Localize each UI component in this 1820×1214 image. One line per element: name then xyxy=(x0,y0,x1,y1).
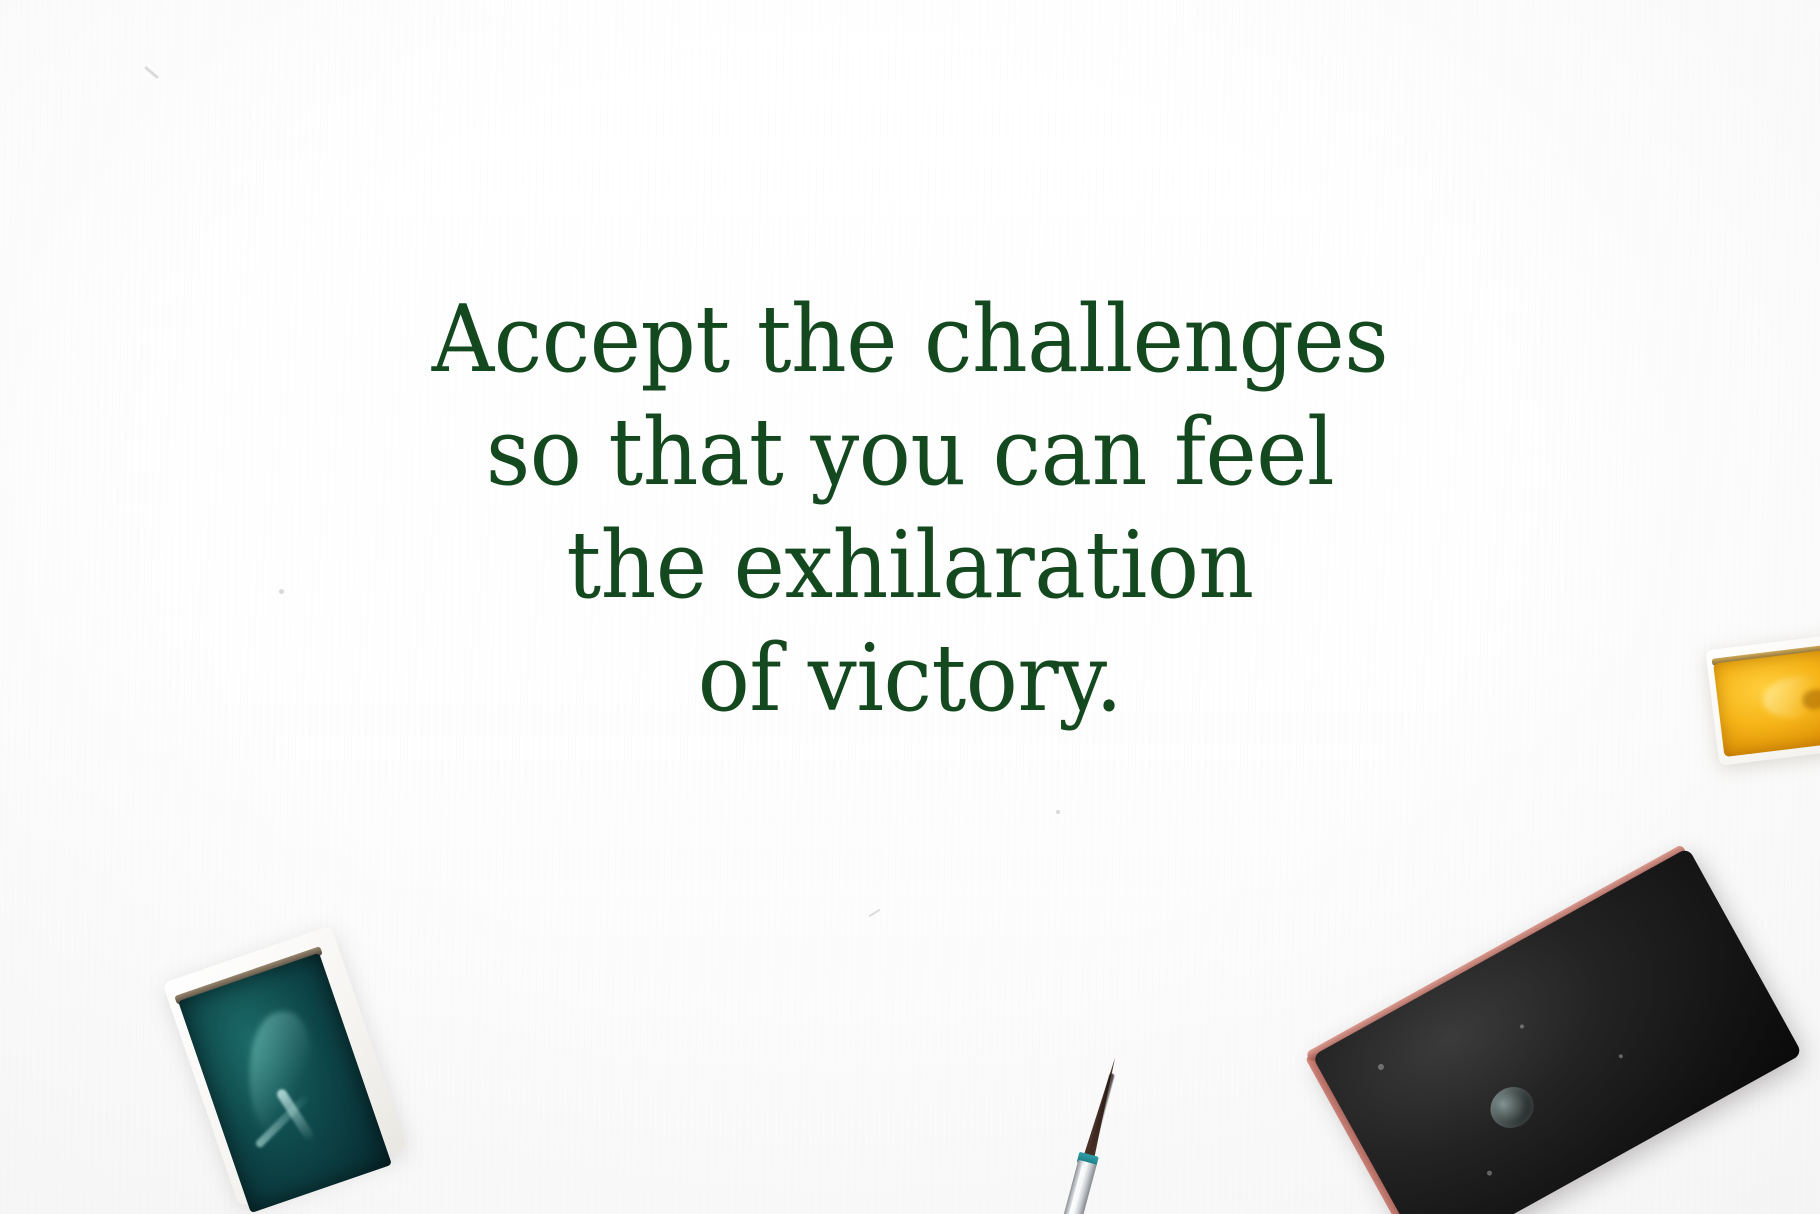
surface-speck xyxy=(1056,810,1060,814)
quote-line-1: Accept the challenges xyxy=(64,283,1757,396)
block-fleck xyxy=(1519,1024,1524,1029)
quote-graphic-canvas: Accept the challenges so that you can fe… xyxy=(0,0,1820,1214)
quote-line-2: so that you can feel xyxy=(64,396,1757,509)
block-fleck xyxy=(1377,1063,1385,1071)
water-droplet xyxy=(1483,1079,1541,1135)
quote-line-3: the exhilaration xyxy=(64,509,1757,622)
block-fleck xyxy=(1618,1054,1623,1059)
quote-line-4: of victory. xyxy=(64,622,1757,735)
block-fleck xyxy=(1486,1170,1493,1177)
quote-text-block: Accept the challenges so that you can fe… xyxy=(0,283,1820,735)
